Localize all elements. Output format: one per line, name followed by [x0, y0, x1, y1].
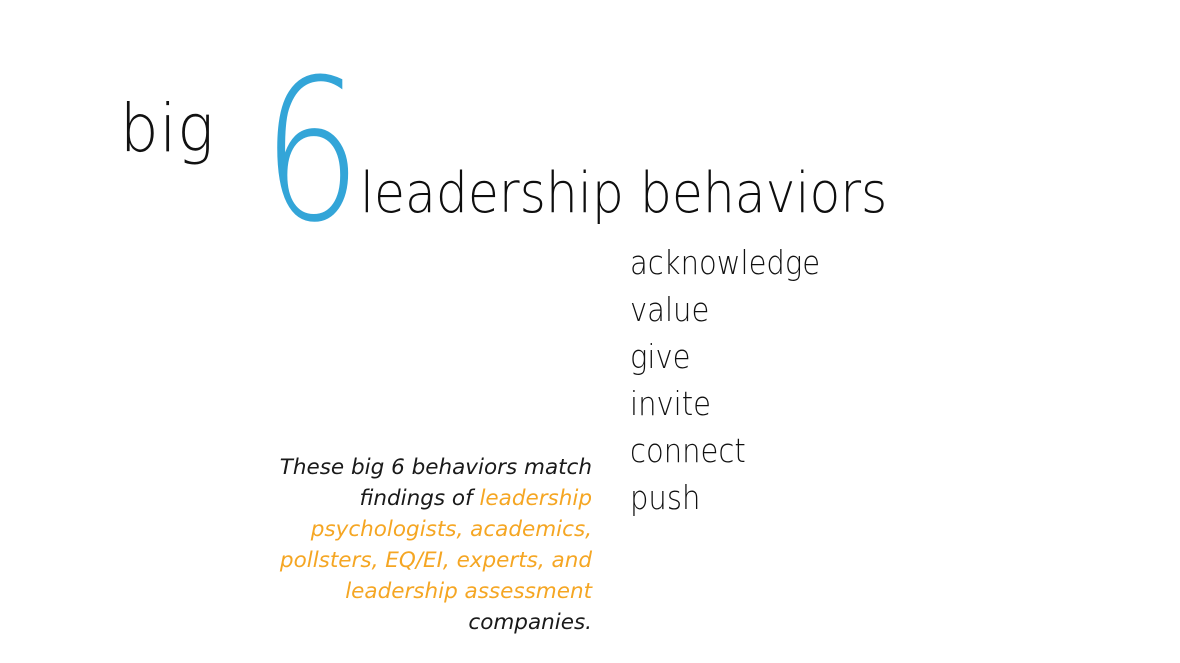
slide-canvas: big 6 leadership behaviors acknowledge v… [0, 0, 1180, 663]
list-item: give [630, 333, 820, 380]
list-item: invite [630, 380, 820, 427]
page-title: big 6 leadership behaviors [112, 96, 932, 246]
list-item: value [630, 286, 820, 333]
headline-subject: leadership behaviors [360, 166, 887, 222]
headline-prefix: big [120, 96, 215, 162]
caption-text: These big 6 behaviors match findings of … [232, 452, 592, 638]
list-item: acknowledge [630, 239, 820, 286]
caption-segment-plain-tail: companies. [468, 610, 592, 635]
behaviors-list: acknowledge value give invite connect pu… [630, 239, 846, 521]
list-item: connect [630, 427, 820, 474]
headline-number-six: 6 [262, 54, 362, 250]
list-item: push [630, 474, 820, 521]
